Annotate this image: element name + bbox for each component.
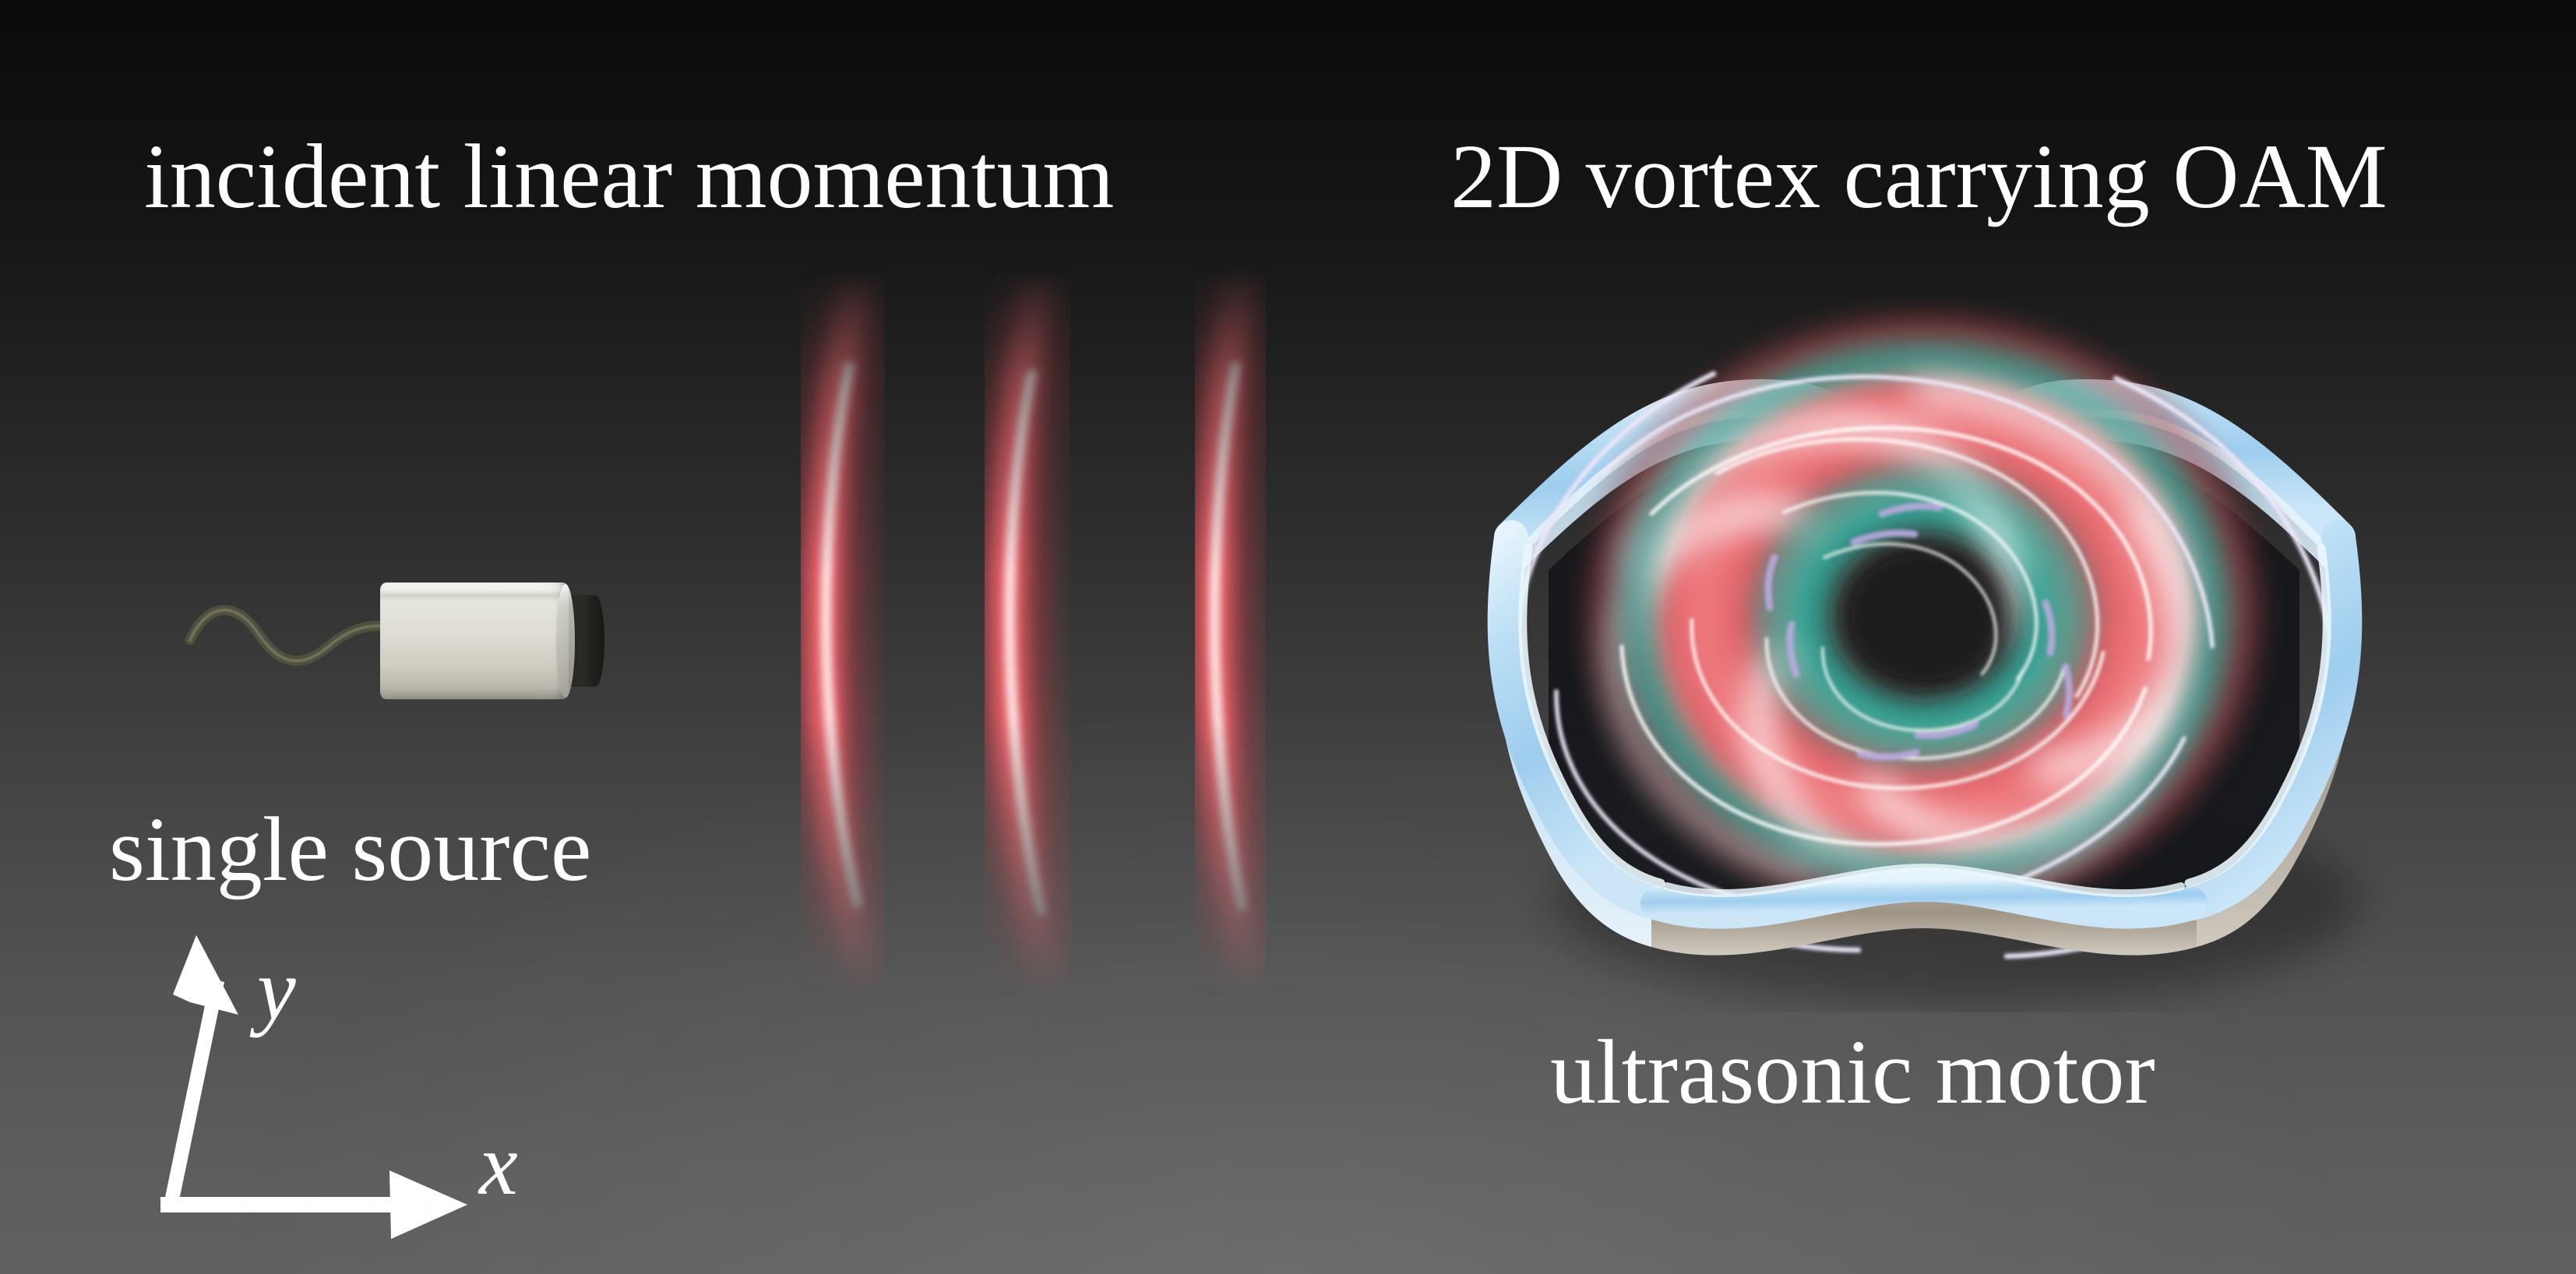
transducer-rim [556,584,575,698]
label-single-source: single source [109,804,591,896]
label-2d-vortex-carrying-oam: 2D vortex carrying OAM [1450,131,2387,223]
source-wire-icon [184,565,402,721]
axis-label-y: y [257,946,296,1033]
axis-label-x: x [479,1121,518,1209]
single-source-transducer [380,582,629,699]
figure-canvas: y x incident linear momentum 2D vortex c… [0,0,2576,1274]
transducer-housing [380,582,569,699]
label-ultrasonic-motor: ultrasonic motor [1550,1026,2155,1118]
label-incident-linear-momentum: incident linear momentum [144,131,1114,223]
incident-plane-wavefronts [701,265,1402,997]
acoustic-vortex-field [1558,288,2290,942]
star-shaped-ultrasonic-motor [1418,280,2430,1012]
